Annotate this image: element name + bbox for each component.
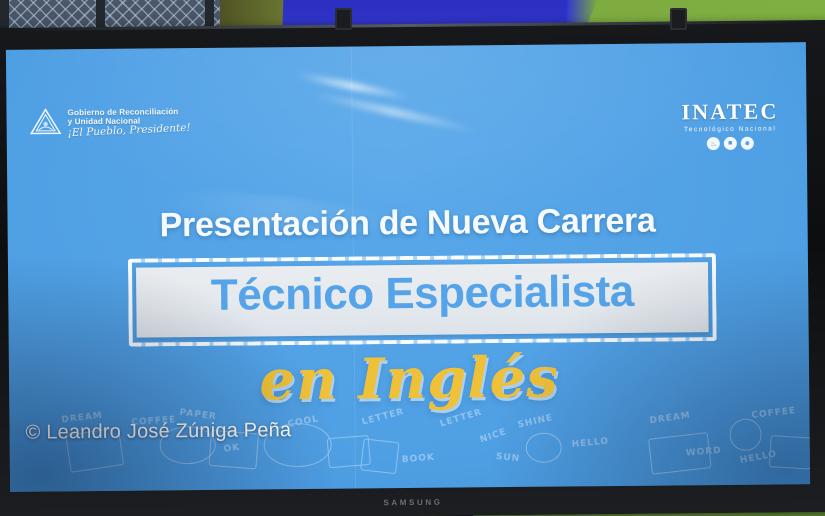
television-set: Gobierno de Reconciliación y Unidad Naci…: [0, 24, 825, 516]
screen-vignette: [6, 42, 810, 492]
photograph-of-presentation-screen: Gobierno de Reconciliación y Unidad Naci…: [0, 0, 825, 516]
tv-brand-label: SAMSUNG: [383, 498, 442, 508]
wall-mount-bracket-left: [335, 8, 352, 30]
wall-mount-bracket-right: [670, 8, 687, 30]
tv-screen: Gobierno de Reconciliación y Unidad Naci…: [6, 42, 810, 492]
